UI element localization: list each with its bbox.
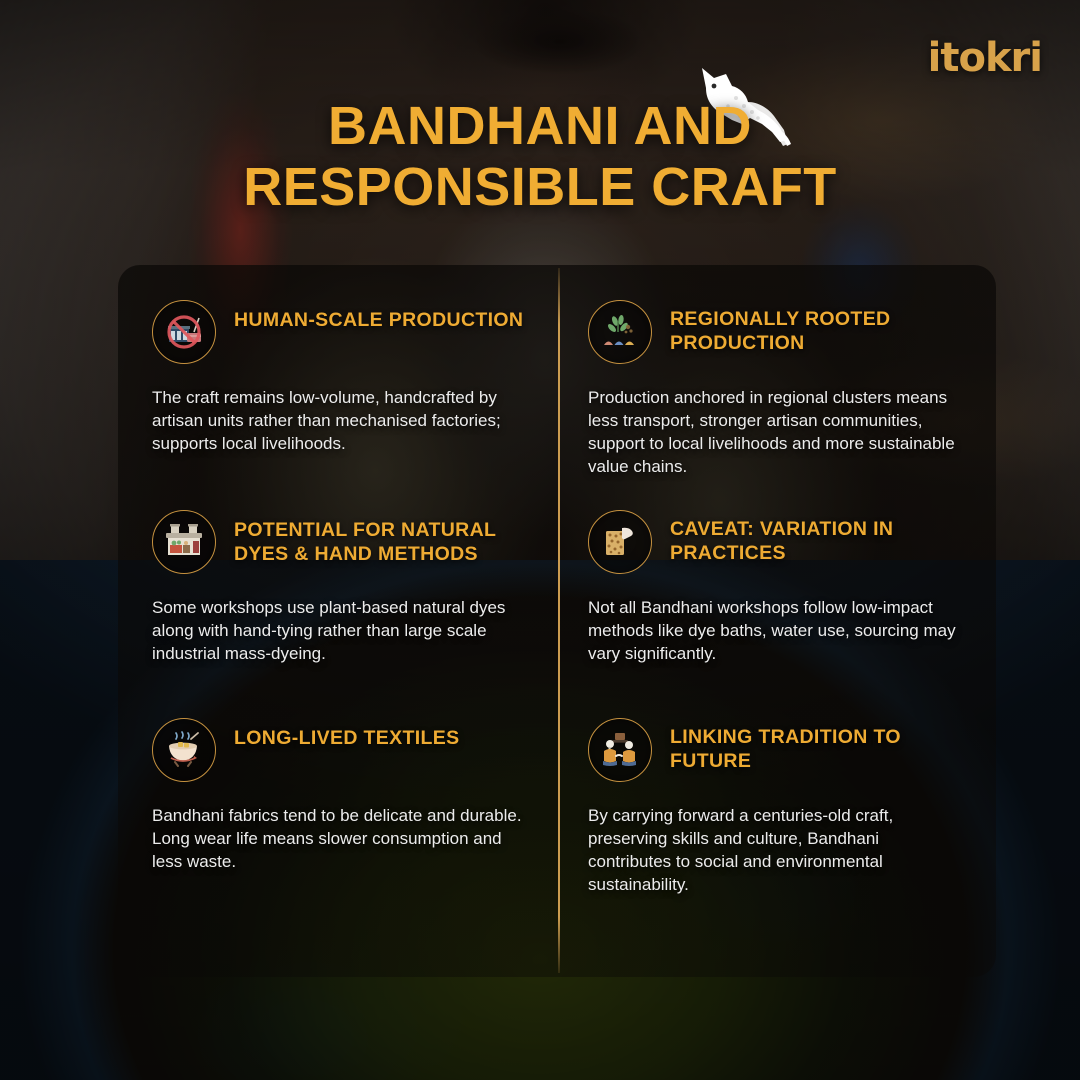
page-title: BANDHANI AND RESPONSIBLE CRAFT — [0, 96, 1080, 218]
title-line-2: RESPONSIBLE CRAFT — [90, 157, 990, 218]
card-title: POTENTIAL FOR NATURAL DYES & HAND METHOD… — [234, 510, 524, 567]
workshop-building-icon — [152, 510, 216, 574]
card-header: LINKING TRADITION TO FUTURE — [588, 718, 962, 782]
benefit-card-regionally-rooted-production[interactable]: REGIONALLY ROOTED PRODUCTION Production … — [558, 265, 996, 475]
card-header: LONG-LIVED TEXTILES — [152, 718, 524, 782]
card-body: Not all Bandhani workshops follow low-im… — [588, 596, 962, 665]
hand-holding-fabric-icon — [588, 510, 652, 574]
benefit-card-long-lived-textiles[interactable]: LONG-LIVED TEXTILES Bandhani fabrics ten… — [118, 683, 558, 977]
card-title: LONG-LIVED TEXTILES — [234, 718, 460, 751]
card-header: REGIONALLY ROOTED PRODUCTION — [588, 300, 962, 364]
infographic-poster: itokri BANDHANI AND RESPONSIBLE CRAFT — [0, 0, 1080, 1080]
card-header: POTENTIAL FOR NATURAL DYES & HAND METHOD… — [152, 510, 524, 574]
card-title: CAVEAT: VARIATION IN PRACTICES — [670, 510, 962, 566]
card-body: Production anchored in regional clusters… — [588, 386, 962, 478]
card-header: HUMAN-SCALE PRODUCTION — [152, 300, 524, 364]
card-title: HUMAN-SCALE PRODUCTION — [234, 300, 523, 333]
benefits-grid: HUMAN-SCALE PRODUCTION The craft remains… — [118, 265, 996, 977]
two-artisans-icon — [588, 718, 652, 782]
benefit-card-natural-dyes-hand-methods[interactable]: POTENTIAL FOR NATURAL DYES & HAND METHOD… — [118, 475, 558, 683]
card-body: The craft remains low-volume, handcrafte… — [152, 386, 524, 455]
benefit-card-human-scale-production[interactable]: HUMAN-SCALE PRODUCTION The craft remains… — [118, 265, 558, 475]
steaming-dye-pot-icon — [152, 718, 216, 782]
card-title: REGIONALLY ROOTED PRODUCTION — [670, 300, 962, 356]
itokri-logo[interactable]: itokri — [928, 38, 1042, 78]
benefit-card-linking-tradition-to-future[interactable]: LINKING TRADITION TO FUTURE By carrying … — [558, 683, 996, 977]
benefit-card-caveat-variation-in-practices[interactable]: CAVEAT: VARIATION IN PRACTICES Not all B… — [558, 475, 996, 683]
card-body: By carrying forward a centuries-old craf… — [588, 804, 962, 896]
no-factory-icon — [152, 300, 216, 364]
card-title: LINKING TRADITION TO FUTURE — [670, 718, 962, 774]
title-line-1: BANDHANI AND — [90, 96, 990, 157]
card-body: Some workshops use plant-based natural d… — [152, 596, 524, 665]
card-header: CAVEAT: VARIATION IN PRACTICES — [588, 510, 962, 574]
card-body: Bandhani fabrics tend to be delicate and… — [152, 804, 524, 873]
plant-dye-pigments-icon — [588, 300, 652, 364]
